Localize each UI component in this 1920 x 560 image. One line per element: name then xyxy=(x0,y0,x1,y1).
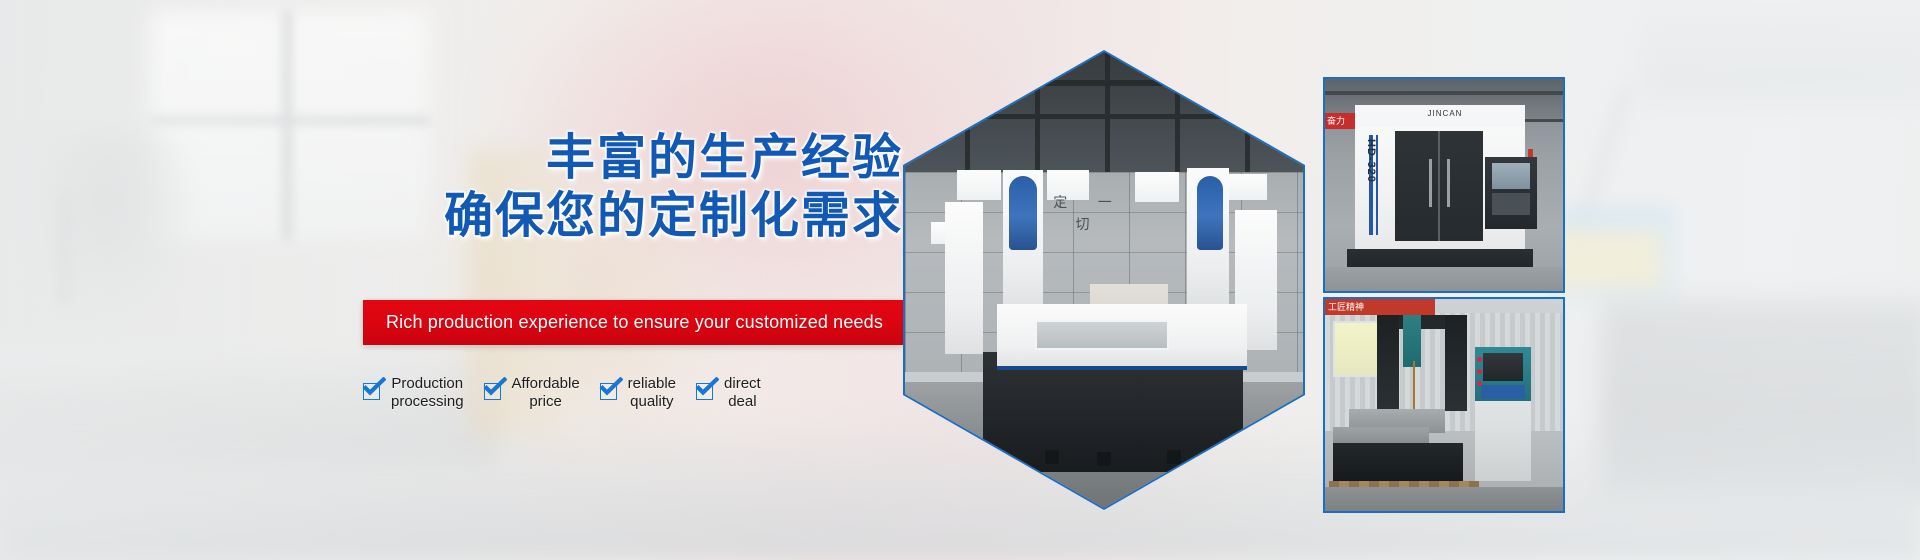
thumb1-control-keypad xyxy=(1492,193,1530,215)
feature-label: Production processing xyxy=(391,375,464,411)
thumb1-door-handle xyxy=(1447,159,1450,207)
feature-item-affordable-price: Affordable price xyxy=(484,375,580,411)
thumb2-indicator-light xyxy=(1477,357,1482,362)
checkbox-checked-icon xyxy=(600,381,619,400)
thumb2-cutting-head xyxy=(1403,315,1421,367)
thumb2-machine-base xyxy=(1333,443,1463,483)
feature-label-line-1: Affordable xyxy=(512,375,580,393)
thumb2-indicator-light xyxy=(1477,369,1482,374)
headline-line-2: 确保您的定制化需求 xyxy=(363,186,903,244)
feature-label-line-2: processing xyxy=(391,393,464,411)
subtitle-text: Rich production experience to ensure you… xyxy=(363,312,883,333)
checkbox-checked-icon xyxy=(484,381,503,400)
checkbox-checked-icon xyxy=(696,381,715,400)
thumb2-gantry-left xyxy=(1377,315,1399,411)
subtitle-bar: Rich production experience to ensure you… xyxy=(363,300,903,345)
thumb2-cutting-wire xyxy=(1413,361,1415,413)
feature-label-line-1: reliable xyxy=(628,375,676,393)
thumb1-door-split xyxy=(1438,131,1440,241)
thumb1-brand-label: JINCAN xyxy=(1417,109,1473,121)
feature-label-line-1: direct xyxy=(724,375,761,393)
promo-banner: 丰富的生产经验 确保您的定制化需求 Rich production experi… xyxy=(0,0,1920,560)
thumb1-floor xyxy=(1325,267,1563,293)
feature-item-production-processing: Production processing xyxy=(363,375,464,411)
feature-label-line-2: deal xyxy=(724,393,761,411)
thumbnail-machining-center[interactable]: 奋力 JINCAN HD-320 xyxy=(1323,77,1565,293)
thumb2-cabinet-screen xyxy=(1483,353,1523,381)
thumb2-cabinet-controls xyxy=(1481,385,1525,399)
feature-item-reliable-quality: reliable quality xyxy=(600,375,676,411)
headline: 丰富的生产经验 确保您的定制化需求 xyxy=(363,128,903,244)
feature-label: direct deal xyxy=(724,375,761,411)
thumb2-gantry-right xyxy=(1445,315,1467,411)
photo-vignette xyxy=(905,52,1303,508)
thumb1-control-screen xyxy=(1492,163,1530,189)
thumb1-beam xyxy=(1325,91,1563,95)
thumb2-wall-banner-text: 工匠精神 xyxy=(1328,299,1438,315)
thumb2-indicator-light xyxy=(1477,381,1482,386)
thumb2-floor xyxy=(1325,487,1563,513)
thumb1-model-label: HD-320 xyxy=(1355,139,1377,199)
banner-copy: 丰富的生产经验 确保您的定制化需求 Rich production experi… xyxy=(0,0,920,560)
feature-label-line-1: Production xyxy=(391,375,464,393)
feature-label-line-2: price xyxy=(512,393,580,411)
feature-label: Affordable price xyxy=(512,375,580,411)
headline-line-1: 丰富的生产经验 xyxy=(363,128,903,186)
feature-list: Production processing Affordable price xyxy=(363,375,903,435)
feature-item-direct-deal: direct deal xyxy=(696,375,761,411)
thumbnail-edm-machine[interactable]: 工匠精神 xyxy=(1323,297,1565,513)
thumb1-door-handle xyxy=(1429,159,1432,207)
checkbox-checked-icon xyxy=(363,381,382,400)
feature-label: reliable quality xyxy=(628,375,676,411)
feature-label-line-2: quality xyxy=(628,393,676,411)
hero-hexagon-photo: 定 一 切 xyxy=(903,50,1305,510)
hexagon-photo-content: 定 一 切 xyxy=(905,52,1303,508)
